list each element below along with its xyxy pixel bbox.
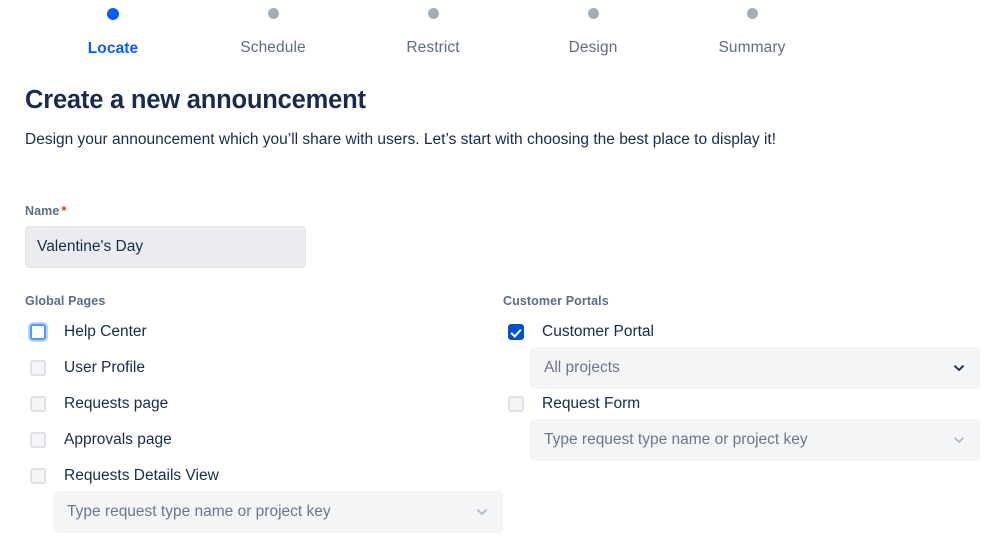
checkbox-customer-portal[interactable]: [508, 324, 524, 340]
page-title: Create a new announcement: [25, 84, 366, 116]
customer-portal-projects-select[interactable]: All projects: [530, 347, 980, 389]
stepper-step-label: Restrict: [353, 39, 513, 57]
stepper-step-label: Summary: [672, 39, 832, 57]
stepper-step-restrict[interactable]: Restrict: [353, 8, 513, 57]
stepper-step-label: Design: [513, 39, 673, 57]
stepper-step-label: Locate: [33, 40, 193, 58]
checkbox-row-approvals-page[interactable]: Approvals page: [30, 428, 172, 452]
checkbox-label: Requests page: [64, 394, 168, 414]
select-value: Type request type name or project key: [544, 430, 951, 450]
customer-portals-header: Customer Portals: [503, 293, 609, 309]
request-form-select[interactable]: Type request type name or project key: [530, 419, 980, 461]
checkbox-row-user-profile[interactable]: User Profile: [30, 356, 145, 380]
checkbox-approvals-page[interactable]: [30, 432, 46, 448]
checkbox-help-center[interactable]: [30, 324, 46, 340]
name-field-label: Name*: [25, 203, 66, 219]
checkbox-label: Help Center: [64, 322, 147, 342]
checkbox-label: User Profile: [64, 358, 145, 378]
checkbox-request-form[interactable]: [508, 396, 524, 412]
stepper-step-design[interactable]: Design: [513, 8, 673, 57]
select-value: All projects: [544, 358, 951, 378]
requests-details-view-select[interactable]: Type request type name or project key: [53, 491, 503, 533]
select-value: Type request type name or project key: [67, 502, 474, 522]
chevron-down-icon: [951, 432, 967, 448]
stepper-step-schedule[interactable]: Schedule: [193, 8, 353, 57]
required-asterisk: *: [61, 204, 66, 218]
wizard-stepper: Locate Schedule Restrict Design Summary: [0, 0, 999, 72]
step-dot-restrict: [428, 8, 439, 19]
name-input[interactable]: [25, 226, 306, 268]
checkbox-row-customer-portal[interactable]: Customer Portal: [508, 320, 654, 344]
global-pages-header: Global Pages: [25, 293, 105, 309]
page-subtitle: Design your announcement which you’ll sh…: [25, 129, 776, 151]
stepper-step-summary[interactable]: Summary: [672, 8, 832, 57]
checkbox-row-help-center[interactable]: Help Center: [30, 320, 147, 344]
chevron-down-icon: [951, 360, 967, 376]
checkbox-row-requests-page[interactable]: Requests page: [30, 392, 168, 416]
checkbox-row-request-form[interactable]: Request Form: [508, 392, 640, 416]
stepper-step-locate[interactable]: Locate: [33, 8, 193, 58]
checkbox-requests-page[interactable]: [30, 396, 46, 412]
checkbox-label: Customer Portal: [542, 322, 654, 342]
checkbox-user-profile[interactable]: [30, 360, 46, 376]
step-dot-design: [588, 8, 599, 19]
step-dot-summary: [747, 8, 758, 19]
stepper-step-label: Schedule: [193, 39, 353, 57]
checkbox-label: Request Form: [542, 394, 640, 414]
step-dot-schedule: [268, 8, 279, 19]
name-label-text: Name: [25, 204, 59, 218]
checkbox-requests-details-view[interactable]: [30, 468, 46, 484]
checkbox-row-requests-details-view[interactable]: Requests Details View: [30, 464, 219, 488]
step-dot-locate: [107, 8, 119, 20]
checkbox-label: Requests Details View: [64, 466, 219, 486]
checkbox-label: Approvals page: [64, 430, 172, 450]
chevron-down-icon: [474, 504, 490, 520]
